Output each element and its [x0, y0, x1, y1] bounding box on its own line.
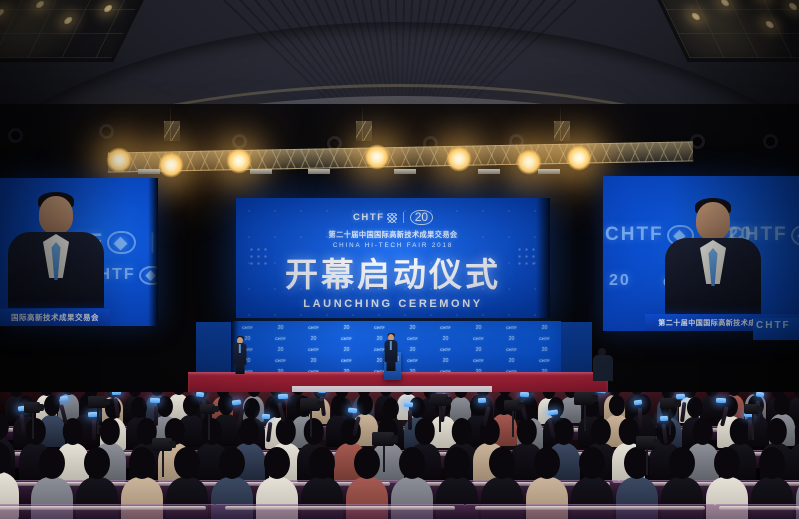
wall-ring-fixture	[763, 134, 778, 149]
lighting-truss	[108, 139, 693, 181]
screen-vignette	[236, 198, 550, 318]
audience-head	[129, 447, 155, 479]
camera-tripod	[669, 409, 671, 435]
logo-text: CHTF	[605, 224, 664, 245]
press-camera	[744, 404, 759, 414]
camera-lens	[445, 397, 452, 404]
stage-spotlight	[566, 145, 592, 171]
wall-ring-fixture	[8, 128, 23, 143]
truss-floodlight	[478, 169, 500, 174]
press-camera	[430, 394, 448, 406]
audience-phone-screen	[404, 401, 414, 407]
audience-raised-arm	[92, 420, 96, 440]
camera-tripod	[208, 414, 210, 440]
camera-tripod	[439, 406, 441, 432]
camera-tripod	[310, 411, 312, 437]
chtf-cube-mark: ◆	[791, 225, 799, 246]
stage-wing-left	[196, 322, 232, 376]
stage-official-left	[233, 337, 247, 373]
audience-head	[84, 447, 110, 479]
stage-wing-right	[560, 322, 592, 376]
table-edge	[719, 506, 799, 510]
audience-phone-screen	[150, 398, 160, 403]
audience-table	[0, 504, 215, 519]
audience-head	[219, 447, 245, 479]
stage-crew-member	[592, 348, 614, 382]
wall-ring-fixture	[99, 124, 114, 139]
camera-lens	[212, 406, 219, 412]
audience-head	[39, 447, 65, 479]
screen-right-speaker-figure	[663, 198, 763, 328]
photo-scene: CHTF◆ | 20 CHTF◆ 国际高新技术成果交易会 CHTF◆ | 20 …	[0, 0, 799, 519]
figure-legs	[236, 364, 245, 374]
audience-phone-screen	[716, 398, 726, 403]
camera-tripod	[512, 411, 514, 437]
audience-head	[489, 447, 515, 479]
led-screen-edge-right: CHTF	[753, 318, 799, 340]
stage-spotlight	[446, 146, 472, 172]
audience-head	[553, 418, 573, 444]
stage-spotlight	[364, 144, 390, 170]
audience-phone-screen	[262, 414, 270, 419]
audience-raised-arm	[154, 406, 158, 426]
camera-tripod	[584, 405, 586, 431]
audience-phone-screen	[60, 395, 69, 401]
stage-spotlight	[158, 152, 184, 178]
truss-mount	[554, 121, 570, 141]
led-screen-left: CHTF◆ | 20 CHTF◆ 国际高新技术成果交易会	[0, 178, 158, 326]
truss-beam	[108, 141, 693, 172]
table-edge	[475, 506, 705, 510]
audience-head	[714, 447, 740, 479]
audience-phone-screen	[756, 392, 765, 398]
truss-floodlight	[308, 169, 330, 174]
main-led-screen: CHTF 20 第二十届中国国际高新技术成果交易会 CHINA HI-TECH …	[236, 198, 550, 318]
audience-raised-arm	[638, 408, 642, 428]
camera-lens	[37, 404, 44, 410]
figure-head	[39, 196, 73, 234]
audience-head	[534, 447, 560, 479]
camera-tripod	[752, 414, 754, 440]
audience-phone-screen	[478, 398, 486, 403]
camera-lens	[169, 441, 176, 448]
figure-body	[593, 355, 613, 381]
audience-head	[174, 447, 200, 479]
table-edge	[0, 506, 206, 510]
audience-phone-screen	[660, 416, 668, 421]
audience-head	[793, 392, 799, 398]
truss-floodlight	[250, 169, 272, 174]
camera-tripod	[383, 446, 385, 472]
audience-table	[215, 504, 465, 519]
stage-speaker-at-podium	[384, 334, 398, 370]
truss-floodlight	[138, 169, 160, 174]
audience-raised-arm	[408, 410, 412, 430]
screen-edge-shadow	[148, 178, 158, 326]
camera-lens	[103, 399, 110, 406]
audience-phone-screen	[196, 392, 205, 398]
audience-phone-screen	[676, 394, 685, 399]
audience-phone-screen	[278, 394, 288, 399]
audience-phone-screen	[634, 399, 643, 405]
stage-spotlight	[226, 148, 252, 174]
screen-right-logo-3: 20	[609, 272, 631, 290]
camera-lens	[517, 402, 524, 408]
camera-tripod	[32, 413, 34, 439]
press-camera	[152, 438, 172, 451]
camera-lens	[653, 439, 660, 446]
screen-edge-shadow	[536, 198, 550, 318]
camera-lens	[591, 395, 598, 402]
press-camera	[660, 398, 677, 409]
audience-head	[303, 418, 323, 444]
camera-tripod	[97, 408, 99, 434]
screen-left-banner: 国际高新技术成果交易会	[0, 309, 110, 326]
press-camera	[574, 392, 594, 405]
audience-head	[669, 447, 695, 479]
truss-floodlight	[394, 169, 416, 174]
audience-table	[715, 504, 799, 519]
press-camera	[372, 432, 394, 446]
camera-lens	[674, 400, 681, 406]
press-camera	[300, 398, 320, 411]
hall-ceiling	[0, 0, 799, 118]
table-edge	[225, 506, 455, 510]
audience-area	[0, 392, 799, 519]
audience-head	[309, 447, 335, 479]
audience-head	[454, 392, 467, 398]
audience-head	[399, 447, 425, 479]
press-camera	[636, 436, 656, 449]
figure-legs	[387, 361, 396, 371]
camera-lens	[756, 406, 763, 412]
figure-necktie	[390, 341, 392, 350]
figure-head	[696, 202, 730, 240]
truss-mount	[356, 121, 372, 141]
audience-phone-screen	[348, 407, 358, 413]
audience-head	[354, 447, 380, 479]
press-camera	[504, 400, 520, 411]
audience-head	[579, 447, 605, 479]
truss-floodlight	[538, 169, 560, 174]
audience-table	[465, 504, 715, 519]
camera-tripod	[646, 449, 648, 475]
stage-spotlight	[106, 147, 132, 173]
audience-phone-screen	[112, 392, 121, 395]
camera-tripod	[162, 451, 164, 477]
press-camera	[200, 404, 215, 414]
chtf-cube-mark: ◆	[107, 231, 136, 254]
press-camera	[88, 396, 106, 408]
screen-left-speaker-figure	[10, 192, 102, 312]
truss-mount	[164, 121, 180, 141]
camera-lens	[391, 435, 398, 443]
figure-necktie	[239, 344, 241, 353]
audience-head	[759, 447, 785, 479]
audience-head	[692, 418, 712, 444]
audience-head	[444, 447, 470, 479]
press-camera	[24, 402, 40, 413]
audience-phone-screen	[520, 392, 529, 397]
camera-lens	[317, 401, 324, 408]
logo-text: CHTF	[756, 320, 791, 331]
led-screen-right: CHTF◆ | 20 CHTF◆ | 20 20 CHTF 第二十届中国国际高新…	[603, 176, 799, 331]
anniversary-badge: 20	[609, 272, 631, 289]
audience-head	[264, 447, 290, 479]
